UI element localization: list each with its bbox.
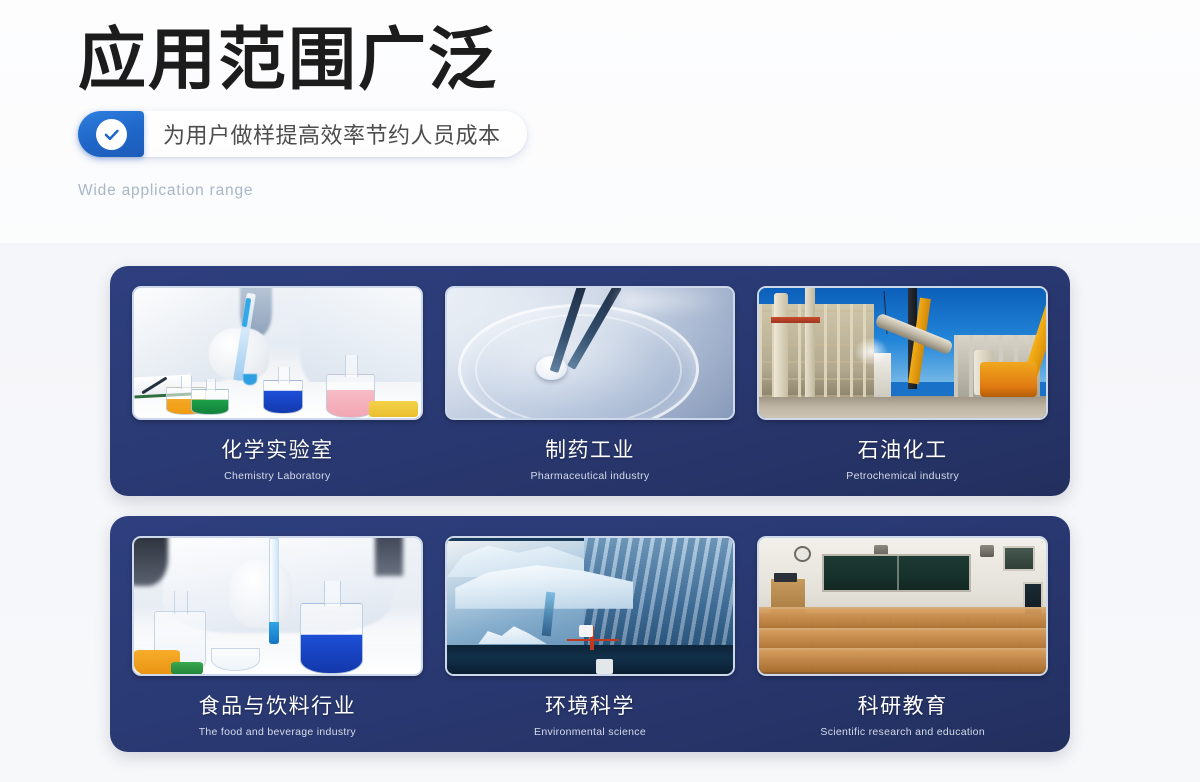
card-thumbnail: [132, 286, 423, 420]
card-title-en: The food and beverage industry: [199, 726, 356, 738]
application-card-research-education[interactable]: 科研教育 Scientific research and education: [757, 536, 1048, 738]
application-card-chemistry-lab[interactable]: 化学实验室 Chemistry Laboratory: [132, 286, 423, 482]
card-title-cn: 化学实验室: [221, 434, 334, 464]
lecture-hall-photo: [759, 538, 1046, 674]
page-title: 应用范围广泛: [78, 26, 778, 95]
card-title-cn: 科研教育: [858, 690, 948, 720]
card-title-en: Petrochemical industry: [846, 470, 959, 482]
highlight-badge: 为用户做样提高效率节约人员成本: [78, 111, 527, 157]
card-title-cn: 制药工业: [545, 434, 635, 464]
application-card-pharmaceutical[interactable]: 制药工业 Pharmaceutical industry: [445, 286, 736, 482]
badge-icon-container: [78, 111, 144, 157]
application-card-food-beverage[interactable]: 食品与饮料行业 The food and beverage industry: [132, 536, 423, 738]
card-thumbnail: [445, 536, 736, 676]
chemistry-lab-photo: [134, 288, 421, 418]
glacier-buoy-photo: [447, 538, 734, 674]
card-title-cn: 石油化工: [858, 434, 948, 464]
page-subtitle-en: Wide application range: [78, 182, 778, 200]
petrochemical-plant-photo: [759, 288, 1046, 418]
card-thumbnail: [757, 536, 1048, 676]
card-thumbnail: [757, 286, 1048, 420]
petri-dish-tweezers-photo: [447, 288, 734, 418]
page-header: 应用范围广泛 为用户做样提高效率节约人员成本 Wide application …: [78, 26, 778, 200]
application-panel-row-2: 食品与饮料行业 The food and beverage industry: [110, 516, 1070, 752]
application-card-petrochemical[interactable]: 石油化工 Petrochemical industry: [757, 286, 1048, 482]
card-title-cn: 食品与饮料行业: [199, 690, 357, 720]
beverage-testing-photo: [134, 538, 421, 674]
application-panel-row-1: 化学实验室 Chemistry Laboratory 制药工业 Pharmace…: [110, 266, 1070, 496]
card-title-en: Environmental science: [534, 726, 646, 738]
card-title-en: Pharmaceutical industry: [531, 470, 650, 482]
application-card-environmental-science[interactable]: 环境科学 Environmental science: [445, 536, 736, 738]
card-thumbnail: [445, 286, 736, 420]
card-title-en: Chemistry Laboratory: [224, 470, 330, 482]
check-circle-icon: [96, 119, 127, 150]
card-thumbnail: [132, 536, 423, 676]
badge-label: 为用户做样提高效率节约人员成本: [144, 111, 501, 157]
card-title-en: Scientific research and education: [820, 726, 985, 738]
card-title-cn: 环境科学: [545, 690, 635, 720]
